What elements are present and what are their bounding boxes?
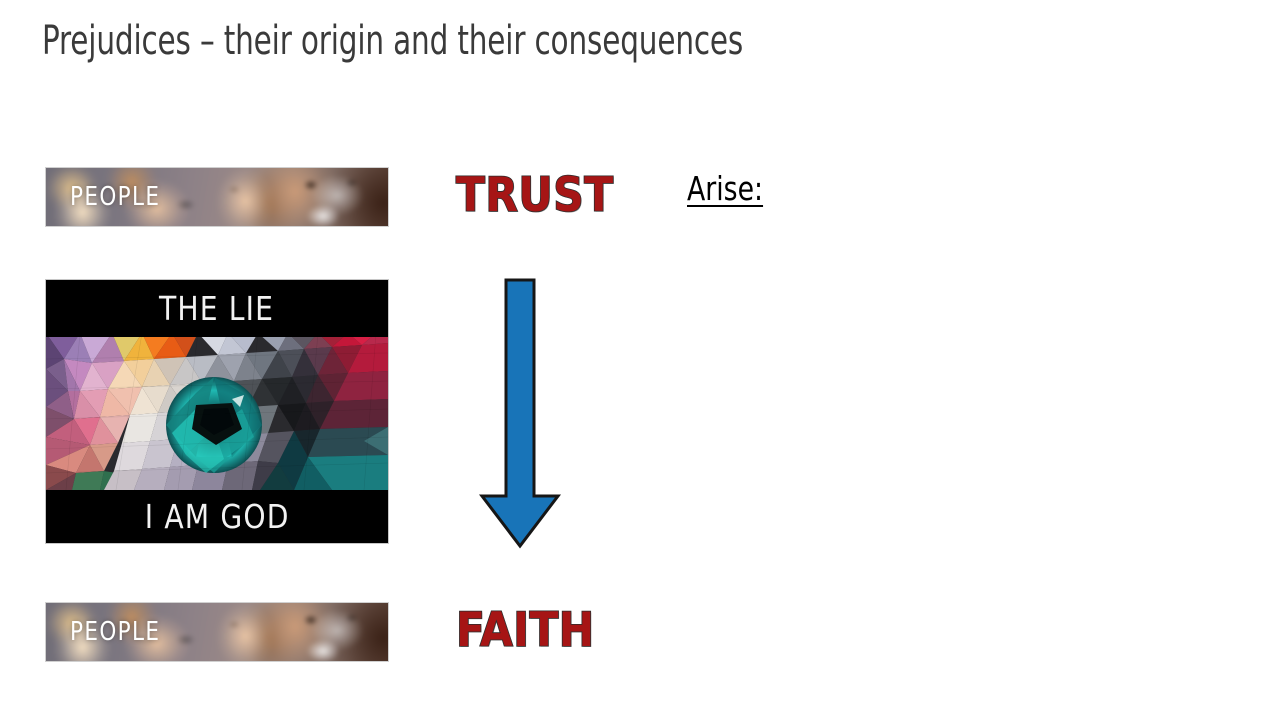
people-banner-top[interactable]: PEOPLE (46, 168, 388, 226)
lie-bottom-band: I AM GOD (46, 490, 388, 543)
trust-word-art: TRUST (456, 168, 614, 223)
arrow-down-icon (477, 278, 563, 550)
lie-top-band: THE LIE (46, 280, 388, 337)
people-banner-bottom-label: PEOPLE (70, 617, 160, 647)
people-banner-bottom[interactable]: PEOPLE (46, 603, 388, 661)
slide-canvas: Prejudices – their origin and their cons… (0, 0, 1280, 720)
lie-bottom-band-text: I AM GOD (145, 497, 290, 536)
page-title: Prejudices – their origin and their cons… (42, 18, 985, 64)
lie-top-band-text: THE LIE (159, 289, 274, 328)
people-banner-top-label: PEOPLE (70, 182, 160, 212)
lie-image[interactable]: THE LIE (46, 280, 388, 543)
arise-heading: Arise: (687, 169, 763, 208)
low-poly-eye-graphic (46, 333, 388, 490)
faith-word-art: FAITH (456, 603, 595, 658)
